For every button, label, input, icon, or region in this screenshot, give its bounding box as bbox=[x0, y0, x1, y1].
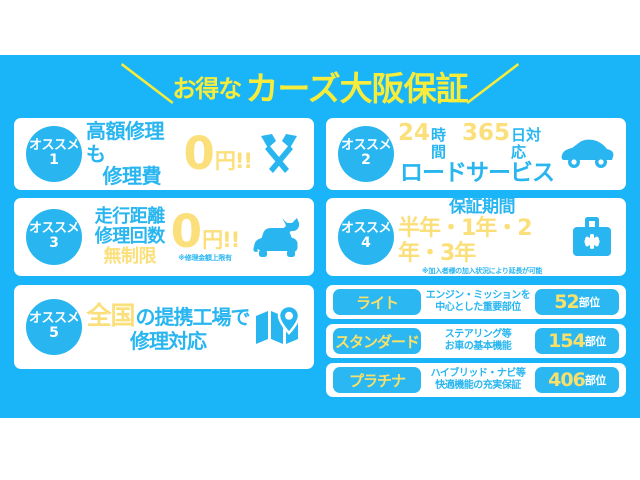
plan-count-pill-standard: 154 部位 bbox=[535, 328, 619, 354]
badge-3-label: オススメ bbox=[29, 222, 79, 236]
card-4-line2: 半年・1年・2年・3年 bbox=[398, 217, 566, 266]
feature-card-3-body: 走行距離 修理回数 無制限 0 円!! ※修理金額上限有 bbox=[82, 207, 252, 267]
headline-slash-right: ／ bbox=[464, 65, 519, 107]
card-2-number-days: 365 bbox=[462, 121, 510, 147]
badge-5: オススメ 5 bbox=[26, 299, 82, 355]
card-2-number-hours: 24 bbox=[398, 121, 430, 147]
badge-2-label: オススメ bbox=[341, 139, 391, 153]
card-3-text: 走行距離 修理回数 無制限 bbox=[95, 207, 165, 267]
feature-card-5: オススメ 5 全国 の提携工場で 修理対応 bbox=[14, 285, 314, 369]
plan-name-light: ライト bbox=[356, 292, 398, 313]
card-2-text: 24 時間 365 日対応 ロードサービス bbox=[398, 121, 556, 186]
plan-name-standard: スタンダード bbox=[335, 331, 419, 352]
car-wrench-icon bbox=[252, 214, 302, 260]
badge-4: オススメ 4 bbox=[338, 209, 394, 265]
card-4-line1: 保証期間 bbox=[449, 198, 515, 217]
plan-count-pill-light: 52 部位 bbox=[535, 289, 619, 315]
badge-3-number: 3 bbox=[49, 236, 59, 251]
plan-name-platinum: プラチナ bbox=[349, 370, 405, 391]
card-3-line2: 修理回数 bbox=[95, 227, 165, 247]
feature-card-1-body: 高額修理も 修理費 0 円!! bbox=[82, 120, 256, 187]
plan-desc-light-line2: 中心とした重要部位 bbox=[424, 302, 532, 315]
badge-4-label: オススメ bbox=[341, 222, 391, 236]
badge-1-number: 1 bbox=[49, 153, 59, 168]
headline: ＼ お得な カーズ大阪保証 ／ bbox=[0, 62, 640, 110]
card-5-highlight: 全国 bbox=[86, 302, 134, 330]
plan-row-light[interactable]: ライト エンジン・ミッションを 中心とした重要部位 52 部位 bbox=[326, 285, 626, 319]
map-pin-icon bbox=[254, 305, 302, 349]
card-3-amount-group: 0 円!! bbox=[171, 211, 239, 252]
card-3-note: ※修理金額上限有 bbox=[178, 255, 231, 263]
badge-5-number: 5 bbox=[49, 326, 59, 341]
feature-card-2: オススメ 2 24 時間 365 日対応 ロードサービス bbox=[326, 118, 626, 190]
card-3-amount-block: 0 円!! ※修理金額上限有 bbox=[171, 211, 239, 262]
plan-desc-platinum-line2: 快適機能の充実保証 bbox=[424, 380, 532, 393]
card-1-unit: 円!! bbox=[215, 145, 252, 175]
badge-1: オススメ 1 bbox=[26, 126, 82, 182]
plan-desc-standard-line1: ステアリング等 bbox=[424, 329, 532, 342]
card-3-line1: 走行距離 bbox=[95, 207, 165, 227]
plan-count-unit-light: 部位 bbox=[579, 294, 600, 310]
plan-name-pill-platinum: プラチナ bbox=[333, 367, 421, 393]
plan-count-pill-platinum: 406 部位 bbox=[535, 367, 619, 393]
card-3-unit: 円!! bbox=[202, 229, 239, 253]
feature-card-5-body: 全国 の提携工場で 修理対応 bbox=[82, 302, 254, 352]
badge-5-label: オススメ bbox=[29, 312, 79, 326]
card-5-line2: 修理対応 bbox=[130, 330, 206, 352]
card-5-text: 全国 の提携工場で 修理対応 bbox=[86, 302, 249, 352]
first-aid-briefcase-icon bbox=[570, 216, 614, 258]
car-icon bbox=[560, 138, 614, 170]
card-1-amount-group: 0 円!! bbox=[184, 133, 252, 174]
plan-count-unit-standard: 部位 bbox=[585, 333, 606, 349]
card-2-line1: 24 時間 365 日対応 bbox=[398, 121, 556, 161]
plan-desc-standard: ステアリング等 お車の基本機能 bbox=[421, 329, 535, 354]
card-3-line3: 無制限 bbox=[104, 247, 157, 267]
plan-desc-light: エンジン・ミッションを 中心とした重要部位 bbox=[421, 290, 535, 315]
feature-card-1: オススメ 1 高額修理も 修理費 0 円!! bbox=[14, 118, 314, 190]
plan-desc-standard-line2: お車の基本機能 bbox=[424, 341, 532, 354]
plan-row-platinum[interactable]: プラチナ ハイブリッド・ナビ等 快適機能の充実保証 406 部位 bbox=[326, 363, 626, 397]
headline-slash-left: ＼ bbox=[121, 65, 176, 107]
feature-card-3: オススメ 3 走行距離 修理回数 無制限 0 円!! ※修理金額上限有 bbox=[14, 198, 314, 276]
plan-count-standard: 154 bbox=[548, 330, 585, 352]
plan-desc-platinum-line1: ハイブリッド・ナビ等 bbox=[424, 368, 532, 381]
card-2-label-days: 日対応 bbox=[511, 127, 556, 161]
plan-desc-light-line1: エンジン・ミッションを bbox=[424, 290, 532, 303]
hammer-tools-icon bbox=[256, 132, 302, 176]
plan-count-light: 52 bbox=[554, 291, 578, 313]
card-4-note: ※加入者様の加入状況により延長が可能 bbox=[422, 268, 542, 276]
card-1-amount: 0 bbox=[184, 133, 215, 174]
plan-count-unit-platinum: 部位 bbox=[585, 372, 606, 388]
card-1-line2: 修理費 bbox=[103, 165, 162, 187]
card-5-line1-rest: の提携工場で bbox=[136, 306, 250, 328]
badge-3: オススメ 3 bbox=[26, 209, 82, 265]
plan-name-pill-standard: スタンダード bbox=[333, 328, 421, 354]
card-2-line2: ロードサービス bbox=[400, 161, 554, 187]
card-3-amount: 0 bbox=[171, 211, 202, 252]
plan-name-pill-light: ライト bbox=[333, 289, 421, 315]
badge-2-number: 2 bbox=[361, 153, 371, 168]
card-1-text: 高額修理も 修理費 bbox=[86, 120, 178, 187]
headline-text-small: お得な bbox=[172, 69, 241, 104]
feature-card-2-body: 24 時間 365 日対応 ロードサービス bbox=[394, 121, 560, 186]
warranty-poster: ＼ お得な カーズ大阪保証 ／ オススメ 1 高額修理も 修理費 0 円!! bbox=[0, 0, 640, 480]
card-5-line1: 全国 の提携工場で bbox=[86, 302, 249, 330]
plan-count-platinum: 406 bbox=[548, 369, 585, 391]
headline-text-main: カーズ大阪保証 bbox=[245, 62, 467, 110]
feature-card-4: オススメ 4 保証期間 半年・1年・2年・3年 ※加入者様の加入状況により延長が… bbox=[326, 198, 626, 276]
plan-row-standard[interactable]: スタンダード ステアリング等 お車の基本機能 154 部位 bbox=[326, 324, 626, 358]
badge-4-number: 4 bbox=[361, 236, 371, 251]
badge-2: オススメ 2 bbox=[338, 126, 394, 182]
plan-desc-platinum: ハイブリッド・ナビ等 快適機能の充実保証 bbox=[421, 368, 535, 393]
badge-1-label: オススメ bbox=[29, 139, 79, 153]
card-2-label-hours: 時間 bbox=[431, 127, 461, 161]
card-4-text: 保証期間 半年・1年・2年・3年 ※加入者様の加入状況により延長が可能 bbox=[398, 198, 566, 276]
card-1-line1: 高額修理も bbox=[86, 120, 178, 165]
feature-card-4-body: 保証期間 半年・1年・2年・3年 ※加入者様の加入状況により延長が可能 bbox=[394, 198, 570, 276]
